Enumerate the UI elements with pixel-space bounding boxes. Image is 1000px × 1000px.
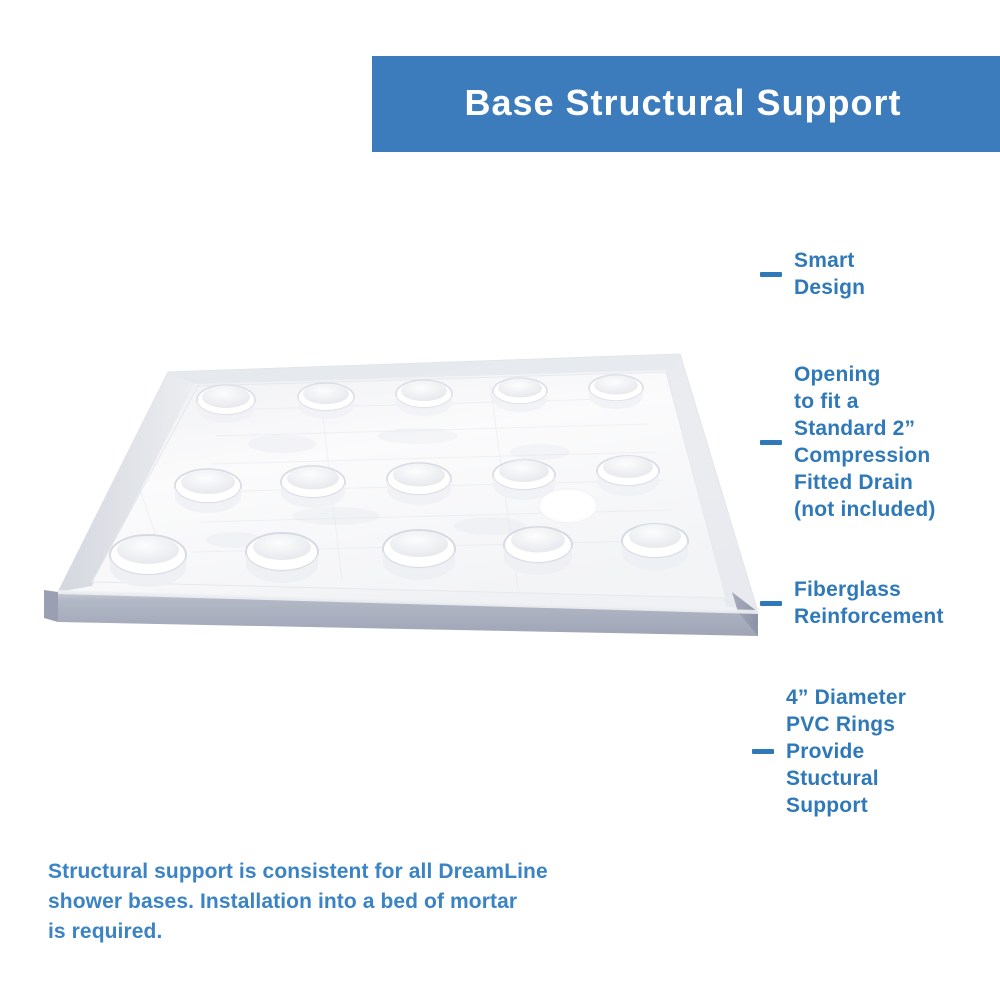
callout-line: Fitted Drain bbox=[794, 469, 936, 496]
callout-line: Compression bbox=[794, 442, 936, 469]
callout-line: (not included) bbox=[794, 496, 936, 523]
pvc-ring bbox=[281, 466, 345, 508]
footer-line: Structural support is consistent for all… bbox=[48, 857, 688, 887]
pvc-ring bbox=[110, 535, 186, 587]
callout-pvc-rings-text: 4” Diameter PVC Rings Provide Stuctural … bbox=[786, 684, 906, 819]
infographic-canvas: Base Structural Support bbox=[0, 0, 1000, 1000]
shower-base-illustration bbox=[20, 340, 780, 660]
callout-line: Support bbox=[786, 792, 906, 819]
callout-pvc-rings: 4” Diameter PVC Rings Provide Stuctural … bbox=[752, 684, 906, 819]
callout-line: Reinforcement bbox=[794, 603, 944, 630]
callout-line: Fiberglass bbox=[794, 576, 944, 603]
callout-fiberglass-text: Fiberglass Reinforcement bbox=[794, 576, 944, 630]
dash-marker-icon bbox=[760, 272, 782, 277]
page-title: Base Structural Support bbox=[464, 82, 907, 126]
dash-marker-icon bbox=[760, 440, 782, 445]
callout-line: Provide bbox=[786, 738, 906, 765]
pvc-ring bbox=[197, 385, 255, 423]
callout-line: PVC Rings bbox=[786, 711, 906, 738]
pvc-ring bbox=[493, 378, 547, 412]
callout-line: 4” Diameter bbox=[786, 684, 906, 711]
product-image bbox=[20, 340, 780, 660]
callout-line: Opening bbox=[794, 361, 936, 388]
pvc-ring bbox=[597, 456, 659, 496]
pvc-ring bbox=[622, 524, 688, 570]
pvc-ring bbox=[298, 383, 354, 419]
pvc-ring bbox=[246, 533, 318, 583]
callout-smart-design-text: Smart Design bbox=[794, 247, 865, 301]
dash-marker-icon bbox=[752, 749, 774, 754]
callout-line: Smart bbox=[794, 247, 865, 274]
footer-note: Structural support is consistent for all… bbox=[48, 857, 688, 947]
pvc-ring bbox=[589, 375, 643, 409]
pvc-ring bbox=[383, 530, 455, 580]
pvc-ring bbox=[175, 469, 241, 513]
header-banner: Base Structural Support bbox=[372, 56, 1000, 152]
pvc-ring bbox=[504, 527, 572, 575]
pvc-ring bbox=[396, 380, 452, 416]
callout-smart-design: Smart Design bbox=[760, 247, 865, 301]
footer-line: shower bases. Installation into a bed of… bbox=[48, 887, 688, 917]
callout-drain-opening: Opening to fit a Standard 2” Compression… bbox=[760, 361, 936, 523]
base-left-edge bbox=[44, 590, 58, 622]
footer-line: is required. bbox=[48, 917, 688, 947]
callout-line: Stuctural bbox=[786, 765, 906, 792]
drain-opening bbox=[539, 489, 597, 523]
callout-line: Standard 2” bbox=[794, 415, 936, 442]
callout-drain-opening-text: Opening to fit a Standard 2” Compression… bbox=[794, 361, 936, 523]
callout-line: Design bbox=[794, 274, 865, 301]
callout-line: to fit a bbox=[794, 388, 936, 415]
dash-marker-icon bbox=[760, 601, 782, 606]
callout-fiberglass-reinforcement: Fiberglass Reinforcement bbox=[760, 576, 944, 630]
pvc-ring bbox=[387, 463, 451, 505]
pvc-ring bbox=[493, 460, 555, 500]
